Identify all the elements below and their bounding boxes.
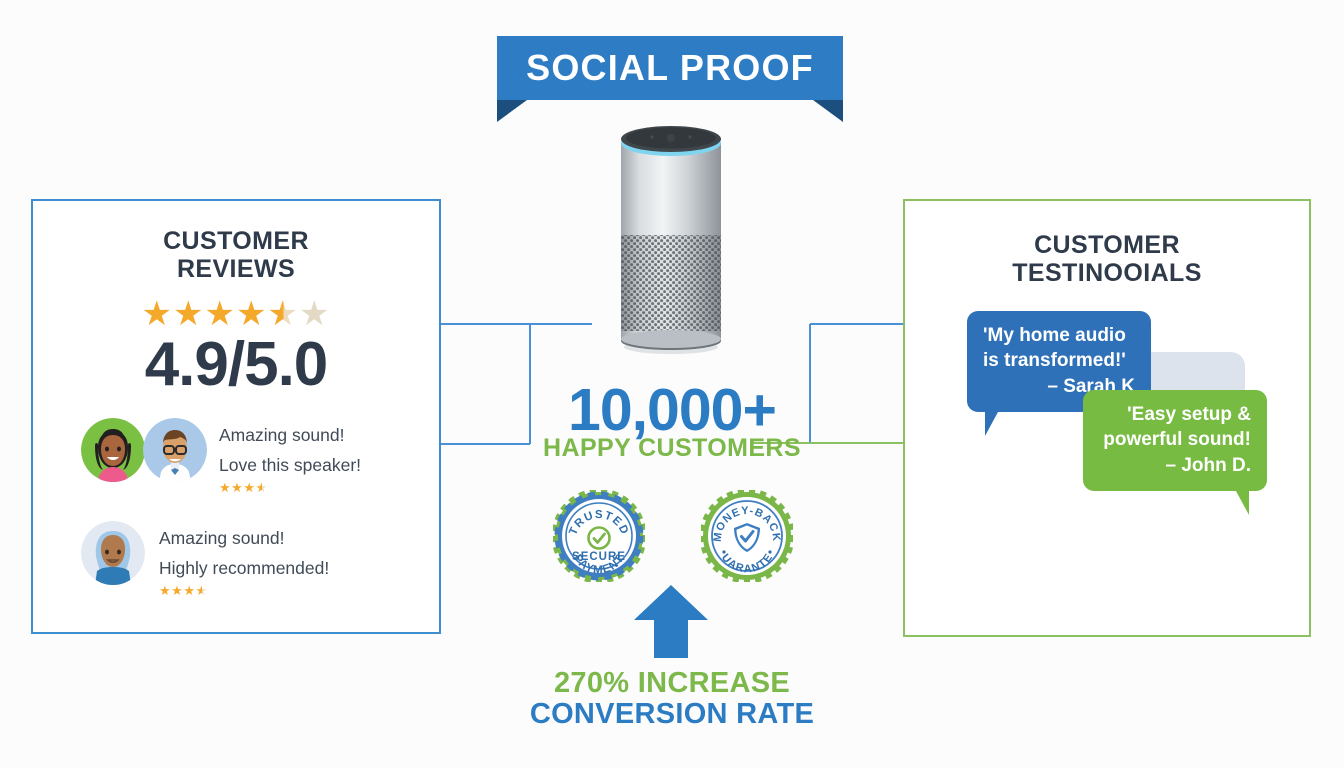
review-row: Amazing sound! Highly recommended! ★★★★ [81, 521, 329, 597]
testimonial-quote-line1: 'Easy setup & [1099, 402, 1251, 427]
testimonial-bubble-john: 'Easy setup & powerful sound! – John D. [1083, 390, 1267, 491]
bubble-tail [985, 412, 998, 436]
review-line-1: Amazing sound! [159, 523, 329, 553]
avatar-woman-hijab-blue [81, 521, 145, 585]
banner-title: SOCIAL PROOF [526, 47, 814, 89]
customer-testimonials-title: CUSTOMER TESTINOOIALS [905, 231, 1309, 287]
up-arrow-icon [634, 585, 708, 658]
review-text-block: Amazing sound! Highly recommended! ★★★★ [159, 521, 329, 597]
avatar-group [81, 521, 149, 587]
review-text-block: Amazing sound! Love this speaker! ★★★★ [219, 418, 361, 494]
badge-money-back-guarantee: MONEY-BACK GUARANTEE [701, 490, 793, 582]
customer-reviews-title: CUSTOMER REVIEWS [33, 227, 439, 283]
testimonial-attribution: – John D. [1099, 453, 1251, 478]
review-line-1: Amazing sound! [219, 420, 361, 450]
testimonial-quote-line2: is transformed!' [983, 348, 1135, 373]
bubble-tail [1236, 491, 1249, 515]
badge-secure-payment: TRUSTED SECURE PAYMENT [553, 490, 645, 582]
review-line-2: Highly recommended! [159, 553, 329, 583]
banner-fold-right [813, 100, 843, 122]
testimonial-quote-line1: 'My home audio [983, 323, 1135, 348]
smart-speaker-image [612, 113, 730, 358]
testimonial-quote-line2: powerful sound! [1099, 427, 1251, 452]
banner-ribbon: SOCIAL PROOF [497, 36, 843, 100]
trust-badges: TRUSTED SECURE PAYMENT [553, 490, 793, 582]
rating-score: 4.9/5.0 [33, 329, 439, 400]
banner-fold-left [497, 100, 527, 122]
conversion-label: CONVERSION RATE [462, 698, 882, 731]
review-row: Amazing sound! Love this speaker! ★★★★ [81, 418, 361, 494]
avatar-woman-green [81, 418, 145, 482]
review-line-2: Love this speaker! [219, 450, 361, 480]
customer-reviews-panel: CUSTOMER REVIEWS ★★★★★★ 4.9/5.0 [31, 199, 441, 634]
conversion-increase: 270% INCREASE [462, 667, 882, 700]
avatar-man-glasses-blue [143, 418, 207, 482]
rating-stars: ★★★★★★ [33, 297, 439, 331]
review-mini-stars: ★★★★ [219, 481, 361, 494]
banner-body: SOCIAL PROOF [497, 36, 843, 100]
customer-count-label: HAPPY CUSTOMERS [462, 434, 882, 463]
avatar-group [81, 418, 209, 484]
infographic-canvas: SOCIAL PROOF CUSTOMER REVIEWS ★★★★★★ 4.9… [0, 0, 1344, 768]
review-mini-stars: ★★★★ [159, 584, 329, 597]
